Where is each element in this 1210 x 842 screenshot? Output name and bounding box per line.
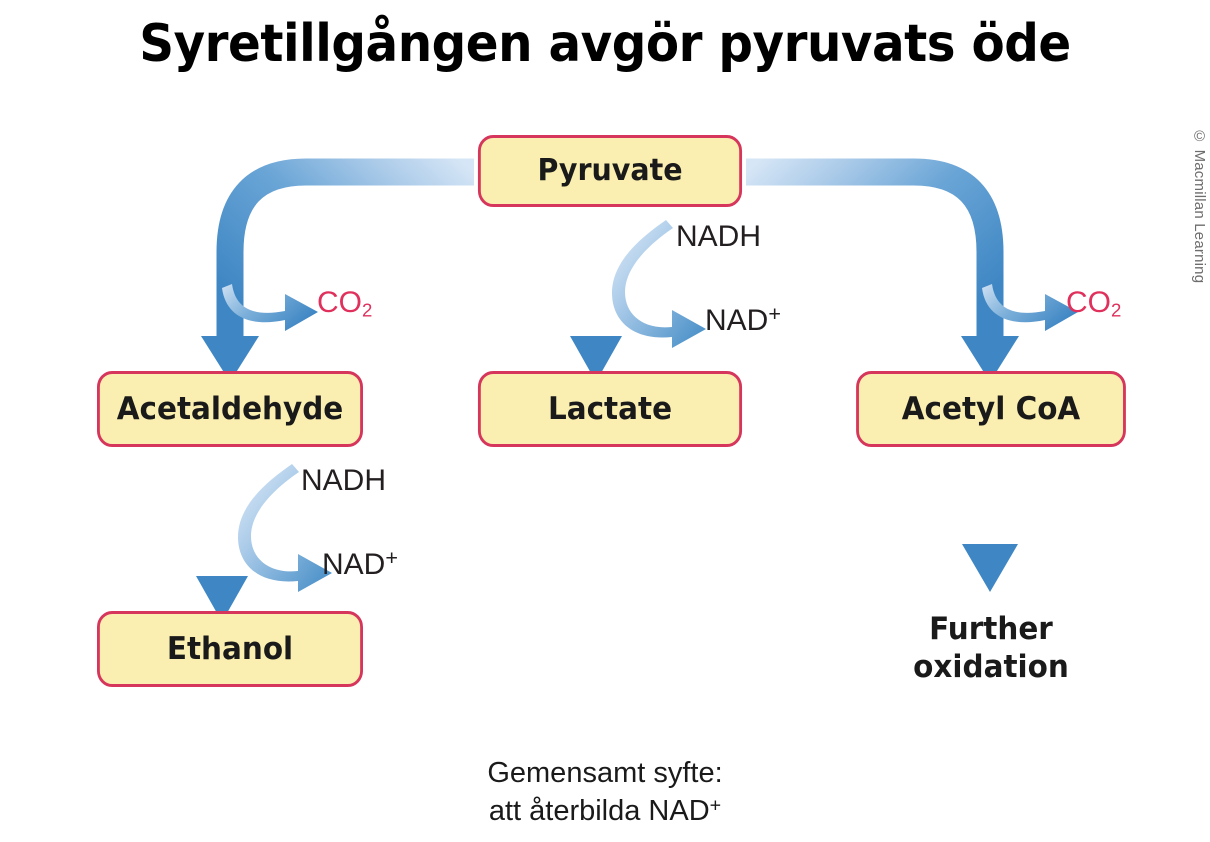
caption-line-1: Gemensamt syfte:	[0, 755, 1210, 793]
node-pyruvate[interactable]: Pyruvate	[478, 135, 742, 207]
bottom-caption: Gemensamt syfte: att återbilda NAD+	[0, 755, 1210, 830]
label-nad-plus-middle-base: NAD	[705, 304, 768, 337]
label-co2-right: CO2	[1066, 288, 1121, 320]
node-acetyl-coa-label: Acetyl CoA	[902, 394, 1080, 425]
node-acetaldehyde[interactable]: Acetaldehyde	[97, 371, 363, 447]
copyright-notice: © Macmillan Learning	[1191, 128, 1208, 283]
node-ethanol-label: Ethanol	[167, 634, 293, 665]
label-co2-right-formula: CO	[1066, 286, 1111, 319]
caption-line-2-base: att återbilda NAD	[489, 795, 710, 827]
arrow-pyruvate-to-acetylcoa	[746, 172, 1019, 382]
label-further-oxidation: Further oxidation	[856, 611, 1126, 687]
label-further-oxidation-line1: Further	[856, 611, 1126, 649]
node-pyruvate-label: Pyruvate	[537, 156, 682, 186]
arrow-pyruvate-to-acetaldehyde	[201, 151, 474, 388]
label-nadh-left: NADH	[301, 466, 386, 496]
label-co2-left: CO2	[317, 288, 372, 320]
label-nadh-middle: NADH	[676, 222, 761, 252]
arrow-acetylcoa-to-further-oxidation	[962, 450, 1018, 592]
node-acetaldehyde-label: Acetaldehyde	[117, 394, 344, 425]
node-lactate-label: Lactate	[548, 394, 672, 425]
node-ethanol[interactable]: Ethanol	[97, 611, 363, 687]
label-nad-plus-middle-superscript: +	[768, 301, 781, 326]
label-co2-left-formula: CO	[317, 286, 362, 319]
label-nad-plus-left-base: NAD	[322, 548, 385, 581]
label-co2-right-subscript: 2	[1111, 300, 1121, 321]
label-further-oxidation-line2: oxidation	[856, 649, 1126, 687]
label-nad-plus-middle: NAD+	[705, 303, 781, 336]
node-lactate[interactable]: Lactate	[478, 371, 742, 447]
caption-line-2: att återbilda NAD+	[0, 793, 1210, 831]
diagram-canvas: Syretillgången avgör pyruvats öde	[0, 0, 1210, 842]
node-acetyl-coa[interactable]: Acetyl CoA	[856, 371, 1126, 447]
caption-line-2-superscript: +	[710, 794, 722, 816]
label-nad-plus-left: NAD+	[322, 547, 398, 580]
label-co2-left-subscript: 2	[362, 300, 372, 321]
label-nad-plus-left-superscript: +	[385, 545, 398, 570]
